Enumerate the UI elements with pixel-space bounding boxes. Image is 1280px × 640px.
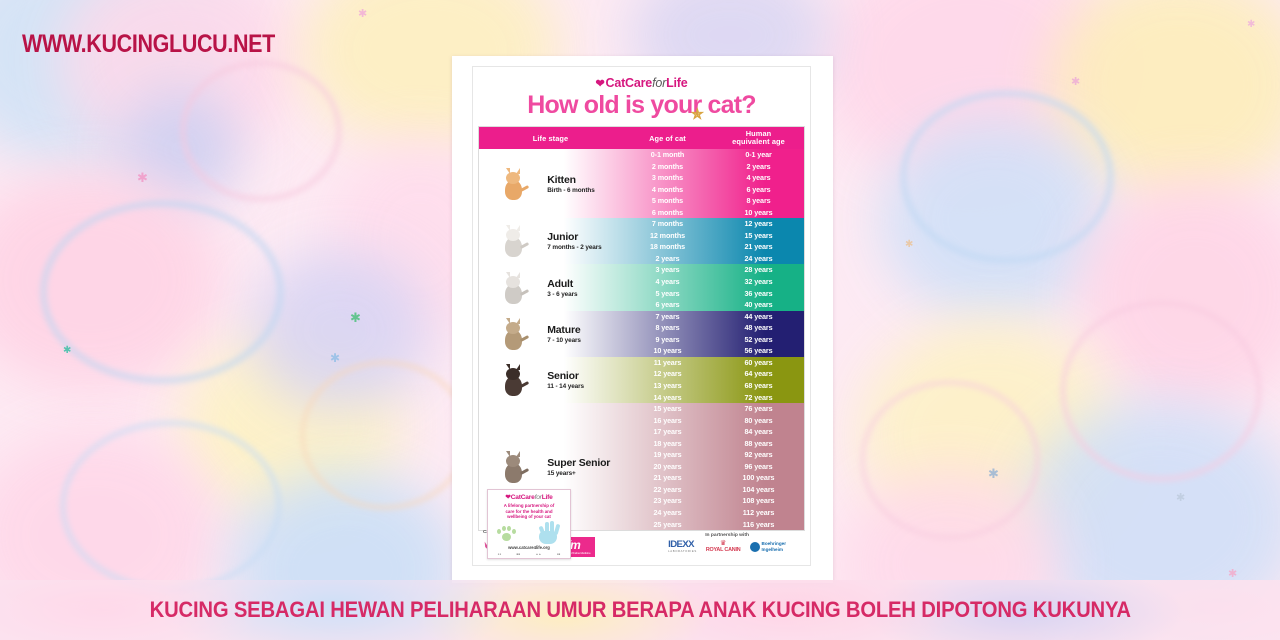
life-stage-cell: Mature7 - 10 years xyxy=(547,311,622,357)
brand-suffix: Life xyxy=(666,76,687,90)
human-equivalent-age-cell: 0-1 year2 years4 years6 years8 years10 y… xyxy=(713,149,804,218)
age-of-cat-value: 21 years xyxy=(622,472,713,484)
age-of-cat-cell: 3 years4 years5 years6 years xyxy=(622,264,713,310)
age-of-cat-value: 12 years xyxy=(622,368,713,380)
age-of-cat-cell: 11 years12 years13 years14 years xyxy=(622,357,713,403)
human-equivalent-age-value: 8 years xyxy=(713,195,804,207)
human-equivalent-age-cell: 76 years80 years84 years88 years92 years… xyxy=(713,403,804,530)
human-equivalent-age-value: 21 years xyxy=(713,241,804,253)
bi-line1: Boehringer xyxy=(762,541,787,546)
age-of-cat-value: 18 years xyxy=(622,438,713,450)
sparkle-icon: ✱ xyxy=(1228,568,1237,579)
age-of-cat-value: 5 months xyxy=(622,195,713,207)
brand-italic: for xyxy=(652,76,666,90)
royal-canin-mark: ROYAL CANIN xyxy=(706,548,741,553)
logo-card-url[interactable]: www.catcare4life.org xyxy=(490,545,568,550)
cat-photo xyxy=(479,357,547,403)
sparkle-icon: ✱ xyxy=(137,172,148,185)
footer-partnership-label: In partnership with xyxy=(654,533,800,538)
life-stage-name: Mature xyxy=(547,324,622,336)
life-stage-range: 7 - 10 years xyxy=(547,337,622,344)
sparkle-icon: ✱ xyxy=(1071,76,1080,87)
human-equivalent-age-value: 10 years xyxy=(713,207,804,219)
life-stage-range: 11 - 14 years xyxy=(547,383,622,390)
human-equivalent-age-cell: 28 years32 years36 years40 years xyxy=(713,264,804,310)
life-stage-name: Adult xyxy=(547,278,622,290)
boehringer-icon xyxy=(750,542,760,552)
human-equivalent-age-value: 72 years xyxy=(713,392,804,404)
human-equivalent-age-value: 15 years xyxy=(713,230,804,242)
age-of-cat-value: 6 years xyxy=(622,299,713,311)
logo-card-artwork xyxy=(490,521,568,545)
age-of-cat-value: 3 months xyxy=(622,172,713,184)
table-row: KittenBirth - 6 months0-1 month2 months3… xyxy=(479,149,804,218)
human-equivalent-age-value: 40 years xyxy=(713,299,804,311)
table-row: Adult3 - 6 years3 years4 years5 years6 y… xyxy=(479,264,804,310)
life-stage-name: Junior xyxy=(547,231,622,243)
gold-sparkle-icon: ✯ xyxy=(691,105,703,123)
age-of-cat-value: 7 years xyxy=(622,311,713,323)
footer-partners: In partnership with IDEXX LABORATORIES ♛… xyxy=(654,533,800,553)
table-row: Senior11 - 14 years11 years12 years13 ye… xyxy=(479,357,804,403)
human-equivalent-age-value: 0-1 year xyxy=(713,149,804,161)
logo-card-partner-strip: ●● ■■ ▲▲ ●■ xyxy=(490,551,568,558)
catcare4life-logo-card: ❤CatCareforLife A lifelong partnership o… xyxy=(487,489,571,559)
age-of-cat-value: 2 years xyxy=(622,253,713,265)
column-header-life-stage: Life stage xyxy=(479,134,622,143)
life-stage-range: 15 years+ xyxy=(547,470,622,477)
table-row: Junior7 months - 2 years7 months12 month… xyxy=(479,218,804,264)
life-stage-range: 3 - 6 years xyxy=(547,291,622,298)
human-equivalent-age-value: 52 years xyxy=(713,334,804,346)
caption-text: KUCING SEBAGAI HEWAN PELIHARAAN UMUR BER… xyxy=(149,597,1130,623)
poster-sheet: ❤CatCareforLife How old is your cat? ✯ L… xyxy=(472,66,811,566)
age-of-cat-cell: 7 years8 years9 years10 years xyxy=(622,311,713,357)
paw-print-icon xyxy=(497,526,516,544)
sparkle-icon: ✱ xyxy=(358,8,367,19)
poster-card: ❤CatCareforLife How old is your cat? ✯ L… xyxy=(452,56,833,583)
age-of-cat-cell: 0-1 month2 months3 months4 months5 month… xyxy=(622,149,713,218)
age-of-cat-value: 13 years xyxy=(622,380,713,392)
idexx-logo: IDEXX LABORATORIES xyxy=(668,540,697,553)
age-of-cat-value: 8 years xyxy=(622,322,713,334)
age-of-cat-value: 14 years xyxy=(622,392,713,404)
human-equivalent-age-value: 12 years xyxy=(713,218,804,230)
age-of-cat-value: 10 years xyxy=(622,345,713,357)
human-equivalent-age-value: 96 years xyxy=(713,461,804,473)
human-equivalent-age-value: 24 years xyxy=(713,253,804,265)
life-stage-range: Birth - 6 months xyxy=(547,187,622,194)
age-of-cat-value: 16 years xyxy=(622,415,713,427)
age-of-cat-value: 24 years xyxy=(622,507,713,519)
table-body: KittenBirth - 6 months0-1 month2 months3… xyxy=(479,149,804,530)
mini-logo: ●■ xyxy=(557,552,561,556)
age-of-cat-value: 4 months xyxy=(622,184,713,196)
column-header-age-of-cat: Age of cat xyxy=(622,134,713,143)
age-of-cat-value: 17 years xyxy=(622,426,713,438)
bottom-caption-bar: KUCING SEBAGAI HEWAN PELIHARAAN UMUR BER… xyxy=(0,580,1280,640)
human-equivalent-age-value: 32 years xyxy=(713,276,804,288)
sparkle-icon: ✱ xyxy=(63,346,71,356)
human-equivalent-age-value: 64 years xyxy=(713,368,804,380)
human-equivalent-age-value: 100 years xyxy=(713,472,804,484)
age-of-cat-value: 2 months xyxy=(622,161,713,173)
hand-print-icon xyxy=(536,520,562,544)
mini-logo: ■■ xyxy=(517,552,521,556)
human-equivalent-age-value: 92 years xyxy=(713,449,804,461)
sparkle-icon: ✱ xyxy=(350,312,361,325)
table-row: Mature7 - 10 years7 years8 years9 years1… xyxy=(479,311,804,357)
human-equivalent-age-value: 36 years xyxy=(713,288,804,300)
idexx-sub: LABORATORIES xyxy=(668,550,697,553)
poster-title: How old is your cat? ✯ xyxy=(473,91,810,120)
human-equivalent-age-value: 84 years xyxy=(713,426,804,438)
site-watermark: WWW.KUCINGLUCU.NET xyxy=(22,30,275,59)
age-chart-table: Life stage Age of cat Human equivalent a… xyxy=(478,126,805,531)
mini-logo: ▲▲ xyxy=(535,552,541,556)
logo-card-tagline: A lifelong partnership of care for the h… xyxy=(490,503,568,520)
age-of-cat-value: 7 months xyxy=(622,218,713,230)
age-of-cat-value: 19 years xyxy=(622,449,713,461)
life-stage-range: 7 months - 2 years xyxy=(547,244,622,251)
cat-photo xyxy=(479,218,547,264)
human-equivalent-age-value: 2 years xyxy=(713,161,804,173)
human-equivalent-age-value: 104 years xyxy=(713,484,804,496)
human-equivalent-age-value: 116 years xyxy=(713,519,804,531)
human-equivalent-age-value: 44 years xyxy=(713,311,804,323)
mini-logo: ●● xyxy=(498,552,502,556)
human-equivalent-age-cell: 44 years48 years52 years56 years xyxy=(713,311,804,357)
human-equivalent-age-value: 88 years xyxy=(713,438,804,450)
life-stage-name: Kitten xyxy=(547,174,622,186)
life-stage-cell: Adult3 - 6 years xyxy=(547,264,622,310)
sparkle-icon: ✱ xyxy=(1176,492,1185,503)
royal-canin-logo: ♛ ROYAL CANIN xyxy=(706,540,741,553)
human-equivalent-age-value: 68 years xyxy=(713,380,804,392)
life-stage-cell: Senior11 - 14 years xyxy=(547,357,622,403)
heart-icon: ❤ xyxy=(595,78,604,90)
poster-brand-logo: ❤CatCareforLife xyxy=(473,76,810,90)
age-of-cat-value: 23 years xyxy=(622,495,713,507)
human-equivalent-age-value: 6 years xyxy=(713,184,804,196)
crown-icon: ♛ xyxy=(706,540,741,547)
age-of-cat-cell: 7 months12 months18 months2 years xyxy=(622,218,713,264)
human-equivalent-age-value: 28 years xyxy=(713,264,804,276)
age-of-cat-value: 25 years xyxy=(622,519,713,531)
human-equivalent-age-value: 48 years xyxy=(713,322,804,334)
age-of-cat-value: 5 years xyxy=(622,288,713,300)
bi-line2: Ingelheim xyxy=(762,547,787,552)
table-header-row: Life stage Age of cat Human equivalent a… xyxy=(479,127,804,149)
human-equivalent-age-value: 4 years xyxy=(713,172,804,184)
idexx-mark: IDEXX xyxy=(668,540,697,550)
human-equivalent-age-value: 56 years xyxy=(713,345,804,357)
human-equivalent-age-cell: 60 years64 years68 years72 years xyxy=(713,357,804,403)
age-of-cat-value: 6 months xyxy=(622,207,713,219)
human-equivalent-age-value: 60 years xyxy=(713,357,804,369)
cat-photo xyxy=(479,311,547,357)
cat-photo xyxy=(479,264,547,310)
age-of-cat-value: 18 months xyxy=(622,241,713,253)
human-equivalent-age-value: 112 years xyxy=(713,507,804,519)
life-stage-name: Senior xyxy=(547,370,622,382)
life-stage-name: Super Senior xyxy=(547,457,622,469)
age-of-cat-value: 22 years xyxy=(622,484,713,496)
poster-title-text: How old is your cat? xyxy=(527,91,755,119)
brand-prefix: CatCare xyxy=(606,76,653,90)
age-of-cat-value: 12 months xyxy=(622,230,713,242)
age-of-cat-value: 20 years xyxy=(622,461,713,473)
age-of-cat-value: 15 years xyxy=(622,403,713,415)
human-equivalent-age-value: 76 years xyxy=(713,403,804,415)
age-of-cat-value: 3 years xyxy=(622,264,713,276)
boehringer-ingelheim-logo: Boehringer Ingelheim xyxy=(750,541,787,552)
column-header-human-equivalent-age: Human equivalent age xyxy=(713,130,804,147)
age-of-cat-value: 9 years xyxy=(622,334,713,346)
human-equivalent-age-cell: 12 years15 years21 years24 years xyxy=(713,218,804,264)
sparkle-icon: ✱ xyxy=(988,468,999,481)
age-of-cat-value: 4 years xyxy=(622,276,713,288)
life-stage-cell: Junior7 months - 2 years xyxy=(547,218,622,264)
life-stage-cell: KittenBirth - 6 months xyxy=(547,149,622,218)
sparkle-icon: ✱ xyxy=(330,352,340,364)
logo-card-brand: ❤CatCareforLife xyxy=(490,493,568,501)
cat-photo xyxy=(479,149,547,218)
sparkle-icon: ✱ xyxy=(905,240,913,250)
age-of-cat-value: 11 years xyxy=(622,357,713,369)
age-of-cat-value: 0-1 month xyxy=(622,149,713,161)
age-of-cat-cell: 15 years16 years17 years18 years19 years… xyxy=(622,403,713,530)
human-equivalent-age-value: 80 years xyxy=(713,415,804,427)
human-equivalent-age-value: 108 years xyxy=(713,495,804,507)
sparkle-icon: ✱ xyxy=(1247,20,1255,30)
